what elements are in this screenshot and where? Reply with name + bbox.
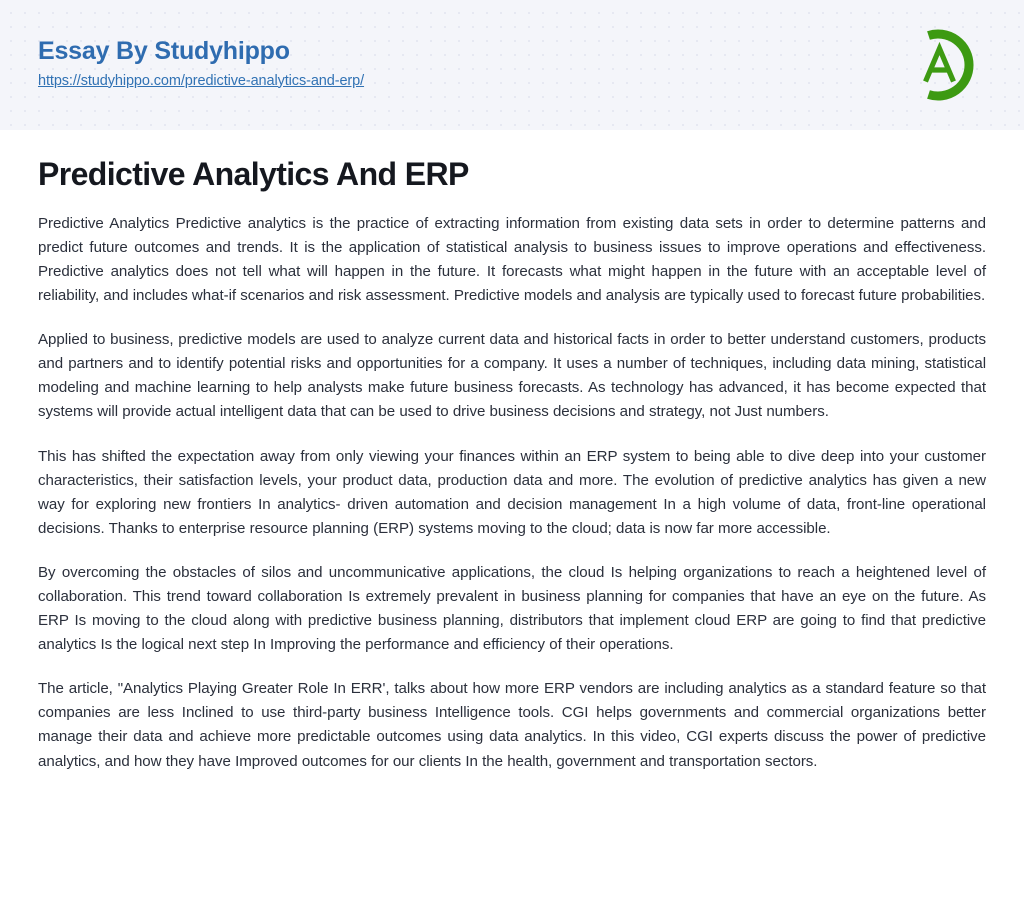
article-paragraph: Applied to business, predictive models a… [38,328,986,424]
site-header: Essay By Studyhippo https://studyhippo.c… [0,0,1024,130]
source-url-link[interactable]: https://studyhippo.com/predictive-analyt… [38,74,364,90]
brand-name: Essay By Studyhippo [38,38,364,64]
article-paragraph: By overcoming the obstacles of silos and… [38,561,986,657]
page-title: Predictive Analytics And ERP [38,156,986,193]
article-paragraph: Predictive Analytics Predictive analytic… [38,212,986,308]
document-page: Essay By Studyhippo https://studyhippo.c… [0,0,1024,915]
article-paragraph: This has shifted the expectation away fr… [38,445,986,541]
article: Predictive Analytics And ERP Predictive … [0,156,1024,774]
article-paragraph: The article, "Analytics Playing Greater … [38,677,986,773]
site-logo[interactable] [906,26,984,104]
article-body: Predictive Analytics Predictive analytic… [38,212,986,774]
brand-block: Essay By Studyhippo https://studyhippo.c… [38,38,364,91]
studyhippo-a-circle-logo-icon [906,26,984,104]
